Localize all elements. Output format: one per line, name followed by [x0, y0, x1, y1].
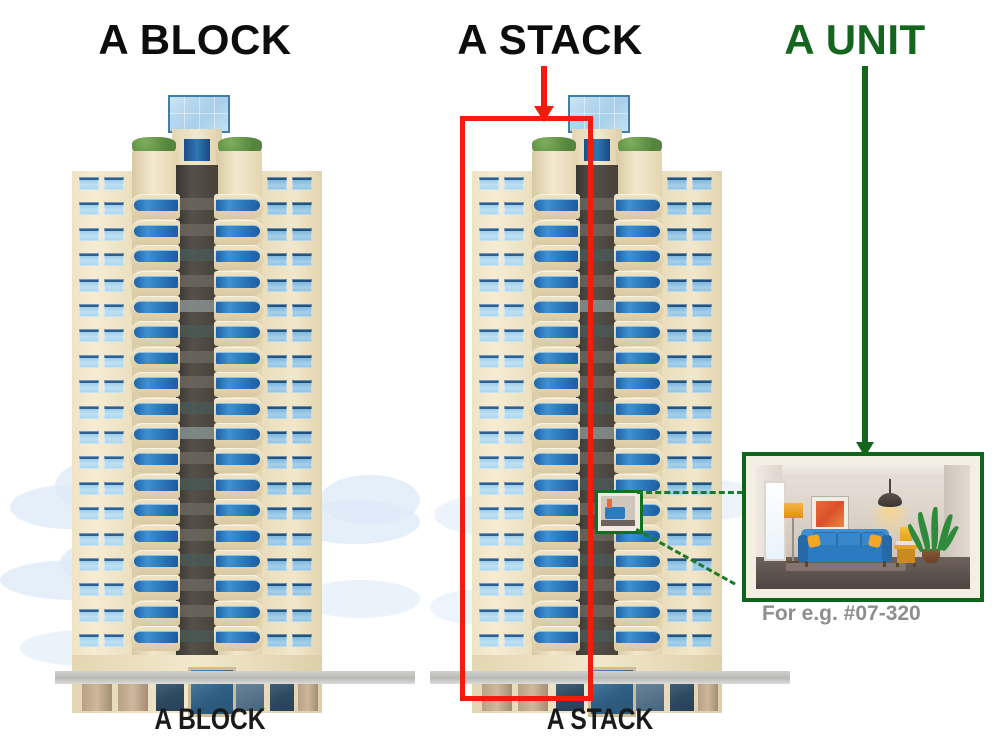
wing-left-window — [104, 202, 124, 215]
balcony-glass-right-stack — [616, 631, 660, 643]
room-window — [764, 481, 786, 561]
wing-left-window — [79, 406, 99, 419]
core-band — [180, 325, 214, 337]
unit-arrow-shaft — [862, 66, 868, 444]
wing-right-window-stack — [667, 380, 687, 393]
wing-left-window — [79, 304, 99, 317]
balcony-glass-right — [216, 326, 260, 338]
balcony-glass-right-stack — [616, 276, 660, 288]
table-books — [896, 541, 916, 545]
balcony-glass-right — [216, 631, 260, 643]
wing-left-window — [104, 558, 124, 571]
balcony-glass-right-stack — [616, 352, 660, 364]
wing-right-window-stack — [692, 507, 712, 520]
core-band — [180, 249, 214, 261]
balcony-glass-right — [216, 479, 260, 491]
wing-right-window-stack — [667, 329, 687, 342]
core-band — [180, 529, 214, 541]
wing-right-window-stack — [667, 583, 687, 596]
balcony-glass-right — [216, 555, 260, 567]
wing-right-window — [267, 634, 287, 647]
zoom-connector-top — [637, 491, 743, 494]
balcony-glass-left — [134, 428, 178, 440]
wing-left-window — [79, 533, 99, 546]
balcony-glass-left — [134, 301, 178, 313]
wing-left-window — [79, 202, 99, 215]
core-band — [180, 503, 214, 515]
balcony-glass-right — [216, 606, 260, 618]
penthouse-window — [184, 139, 210, 161]
core-band — [180, 554, 214, 566]
wing-left-window — [104, 406, 124, 419]
wing-right-window-stack — [692, 355, 712, 368]
wing-right-window — [267, 456, 287, 469]
sofa-leg-left — [805, 561, 808, 567]
balcony-glass-right-stack — [616, 377, 660, 389]
balcony-glass-right-stack — [616, 555, 660, 567]
wing-right-window-stack — [667, 279, 687, 292]
wing-left-window — [104, 583, 124, 596]
wing-right-window — [292, 253, 312, 266]
floor-lamp-shade — [784, 503, 803, 518]
diagram-canvas: A BLOCK A STACK A UNIT — [0, 0, 1000, 750]
wing-right-window-stack — [667, 253, 687, 266]
wing-right-window — [292, 228, 312, 241]
wing-right-window — [292, 355, 312, 368]
wing-right-window — [292, 482, 312, 495]
wing-right-window-stack — [692, 304, 712, 317]
core-band — [180, 402, 214, 414]
wing-left-window — [79, 507, 99, 520]
balcony-glass-right-stack — [616, 403, 660, 415]
wing-right-window — [292, 634, 312, 647]
wing-right-window — [267, 609, 287, 622]
wing-right-window — [292, 583, 312, 596]
wing-right-window-stack — [667, 507, 687, 520]
wing-right-window — [292, 177, 312, 190]
wing-right-window — [292, 406, 312, 419]
wing-right-window — [267, 431, 287, 444]
wing-right-window — [267, 355, 287, 368]
balcony-glass-right-stack — [616, 453, 660, 465]
wing-left-window — [79, 279, 99, 292]
wing-left-window — [104, 533, 124, 546]
balcony-glass-right-stack — [616, 199, 660, 211]
wing-left-window — [104, 380, 124, 393]
wing-left-window — [79, 456, 99, 469]
wing-left-window — [79, 482, 99, 495]
wing-right-window-stack — [667, 228, 687, 241]
heading-stack: A STACK — [395, 16, 705, 64]
wing-left-window — [79, 558, 99, 571]
sofa-arm-right — [882, 535, 892, 562]
core-band — [180, 630, 214, 642]
wing-right-window-stack — [667, 304, 687, 317]
balcony-glass-right — [216, 225, 260, 237]
wing-right-window — [292, 202, 312, 215]
wing-right-window-stack — [692, 177, 712, 190]
wing-left-window — [104, 177, 124, 190]
core-band — [180, 275, 214, 287]
wing-left-window — [79, 380, 99, 393]
balcony-glass-left — [134, 276, 178, 288]
sofa-leg-right — [883, 561, 886, 567]
balcony-glass-left — [134, 453, 178, 465]
wing-right-window — [267, 253, 287, 266]
sofa-pillow-right — [868, 534, 882, 548]
core-band — [180, 300, 214, 312]
wing-left-window — [79, 177, 99, 190]
wing-right-window-stack — [692, 380, 712, 393]
balcony-glass-right — [216, 403, 260, 415]
balcony-glass-left — [134, 580, 178, 592]
wing-right-window-stack — [692, 634, 712, 647]
wing-left-window — [79, 431, 99, 444]
wing-left-window — [104, 482, 124, 495]
plant-pot — [922, 549, 940, 563]
wing-right-window-stack — [667, 177, 687, 190]
wing-left-window — [79, 634, 99, 647]
wing-left-window — [79, 228, 99, 241]
wing-right-window-stack — [667, 202, 687, 215]
sofa-seat — [801, 545, 889, 562]
wing-right-window — [292, 380, 312, 393]
balcony-glass-right — [216, 301, 260, 313]
balcony-glass-left — [134, 199, 178, 211]
caption-block: A BLOCK — [87, 703, 333, 737]
balcony-glass-right — [216, 530, 260, 542]
caption-stack: A STACK — [477, 703, 723, 737]
sofa-pillow-left — [807, 534, 821, 548]
wing-right-window — [267, 583, 287, 596]
balcony-glass-right — [216, 276, 260, 288]
wing-right-window — [267, 380, 287, 393]
wing-right-window — [292, 329, 312, 342]
wing-right-window-stack — [692, 609, 712, 622]
wing-right-window — [267, 558, 287, 571]
balcony-glass-right-stack — [616, 225, 660, 237]
core-band — [180, 198, 214, 210]
stack-highlight-box — [460, 116, 593, 701]
side-table-body — [897, 549, 915, 563]
wing-right-window — [292, 533, 312, 546]
core-band — [180, 224, 214, 236]
balcony-glass-left — [134, 225, 178, 237]
unit-detail-frame[interactable] — [742, 452, 984, 602]
wing-left-window — [104, 355, 124, 368]
wing-right-window-stack — [667, 355, 687, 368]
wing-right-window — [267, 228, 287, 241]
balcony-glass-right-stack — [616, 301, 660, 313]
wing-left-window — [104, 253, 124, 266]
heading-unit: A UNIT — [720, 16, 990, 64]
wing-right-window-stack — [692, 202, 712, 215]
core-band — [180, 351, 214, 363]
wing-right-window-stack — [667, 406, 687, 419]
wing-right-window — [292, 431, 312, 444]
wing-right-window-stack — [667, 634, 687, 647]
balcony-glass-left — [134, 403, 178, 415]
balcony-glass-right — [216, 453, 260, 465]
wing-left-window — [104, 279, 124, 292]
wing-right-window — [292, 609, 312, 622]
wing-right-window-stack — [692, 406, 712, 419]
balcony-glass-right — [216, 428, 260, 440]
wing-left-window — [104, 456, 124, 469]
wing-right-window-stack — [667, 431, 687, 444]
side-table-leg-right — [913, 563, 916, 567]
wing-right-window-stack — [667, 533, 687, 546]
room-rug — [786, 563, 906, 571]
balcony-glass-right-stack — [616, 250, 660, 262]
wing-left-window — [104, 431, 124, 444]
balcony-glass-left — [134, 326, 178, 338]
balcony-glass-right — [216, 580, 260, 592]
wing-left-window — [104, 329, 124, 342]
balcony-glass-right — [216, 199, 260, 211]
wing-right-window — [292, 456, 312, 469]
balcony-glass-left — [134, 606, 178, 618]
framed-artwork — [812, 497, 848, 531]
core-band — [180, 478, 214, 490]
wing-right-window-stack — [692, 456, 712, 469]
balcony-glass-right-stack — [616, 580, 660, 592]
floor-lamp-base — [787, 561, 799, 563]
wing-right-window-stack — [692, 431, 712, 444]
stack-arrow-shaft — [541, 66, 547, 108]
balcony-glass-right-stack — [616, 428, 660, 440]
core-band — [180, 452, 214, 464]
balcony-glass-left — [134, 504, 178, 516]
ground-line-block — [55, 671, 415, 684]
wing-left-window — [104, 634, 124, 647]
wing-left-window — [79, 355, 99, 368]
wing-right-window-stack — [692, 279, 712, 292]
wing-right-window-stack — [667, 456, 687, 469]
balcony-glass-left — [134, 555, 178, 567]
core-band — [180, 427, 214, 439]
wing-right-window-stack — [667, 558, 687, 571]
wing-right-window — [267, 482, 287, 495]
wing-right-window — [267, 533, 287, 546]
balcony-glass-right — [216, 352, 260, 364]
unit-example-label: For e.g. #07-320 — [762, 602, 921, 626]
wing-right-window — [267, 329, 287, 342]
penthouse-glass-box — [168, 95, 230, 133]
wing-right-window — [292, 304, 312, 317]
heading-block: A BLOCK — [40, 16, 350, 64]
balcony-glass-left — [134, 250, 178, 262]
wing-right-window-stack — [667, 609, 687, 622]
wing-left-window — [104, 228, 124, 241]
balcony-glass-right-stack — [616, 326, 660, 338]
balcony-glass-left — [134, 377, 178, 389]
wing-right-window — [267, 507, 287, 520]
wing-left-window — [104, 609, 124, 622]
balcony-glass-left — [134, 352, 178, 364]
core-band — [180, 579, 214, 591]
building-block — [60, 95, 360, 675]
core-band — [180, 605, 214, 617]
wing-right-window-stack — [692, 533, 712, 546]
wing-right-window-stack — [692, 329, 712, 342]
balcony-glass-left — [134, 530, 178, 542]
balcony-glass-left — [134, 631, 178, 643]
wing-left-window — [79, 583, 99, 596]
wing-left-window — [104, 507, 124, 520]
wing-right-window — [292, 279, 312, 292]
core-band — [180, 376, 214, 388]
unit-room-illustration — [756, 465, 970, 589]
wing-right-window — [267, 279, 287, 292]
floor-lamp-stand — [792, 513, 794, 563]
wing-right-window — [267, 177, 287, 190]
wing-left-window — [79, 253, 99, 266]
wing-right-window — [267, 304, 287, 317]
wing-right-window — [292, 558, 312, 571]
wing-left-window — [79, 609, 99, 622]
balcony-glass-right-stack — [616, 606, 660, 618]
balcony-glass-right — [216, 250, 260, 262]
wing-right-window — [292, 507, 312, 520]
wing-right-window-stack — [692, 583, 712, 596]
wing-right-window — [267, 202, 287, 215]
balcony-glass-right-stack — [616, 479, 660, 491]
wing-left-window — [104, 304, 124, 317]
side-table-leg-left — [896, 563, 899, 567]
wing-right-window — [267, 406, 287, 419]
wing-left-window — [79, 329, 99, 342]
balcony-glass-right — [216, 504, 260, 516]
balcony-glass-right — [216, 377, 260, 389]
wing-right-window-stack — [692, 253, 712, 266]
wing-right-window-stack — [692, 228, 712, 241]
pendant-light — [878, 493, 902, 507]
balcony-glass-left — [134, 479, 178, 491]
